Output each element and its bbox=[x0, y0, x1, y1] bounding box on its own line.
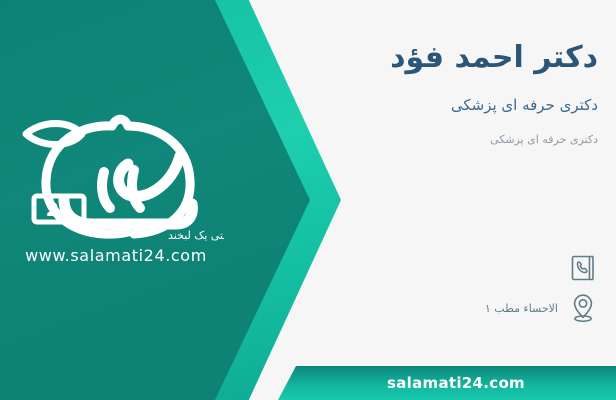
doctor-name: دکتر احمد فؤد bbox=[390, 40, 598, 76]
brand-logo: 24 به راحتی یک لبخند www.salamati24.com bbox=[8, 104, 228, 274]
footer-bar[interactable]: salamati24.com bbox=[296, 366, 616, 400]
phonebook-icon bbox=[568, 252, 598, 284]
contact-list: الاحساء مطب ۱ bbox=[328, 248, 598, 328]
logo-url: www.salamati24.com bbox=[8, 246, 224, 265]
footer-site-label: salamati24.com bbox=[387, 374, 525, 392]
doctor-specialty: دکتری حرفه ای پزشکی bbox=[451, 96, 598, 114]
doctor-specialty-secondary: دکتری حرفه ای پزشکی bbox=[490, 133, 598, 146]
contact-address-label: الاحساء مطب ۱ bbox=[485, 302, 558, 315]
location-pin-icon bbox=[568, 292, 598, 324]
apple-leaf-icon: 24 به راحتی یک لبخند bbox=[8, 104, 224, 244]
contact-row-phone[interactable] bbox=[328, 248, 598, 288]
logo-tagline: به راحتی یک لبخند bbox=[168, 229, 224, 242]
business-card: 24 به راحتی یک لبخند www.salamati24.com … bbox=[0, 0, 616, 400]
profile-pane: دکتر احمد فؤد دکتری حرفه ای پزشکی دکتری … bbox=[310, 0, 616, 400]
svg-text:24: 24 bbox=[46, 199, 72, 221]
contact-row-address[interactable]: الاحساء مطب ۱ bbox=[328, 288, 598, 328]
